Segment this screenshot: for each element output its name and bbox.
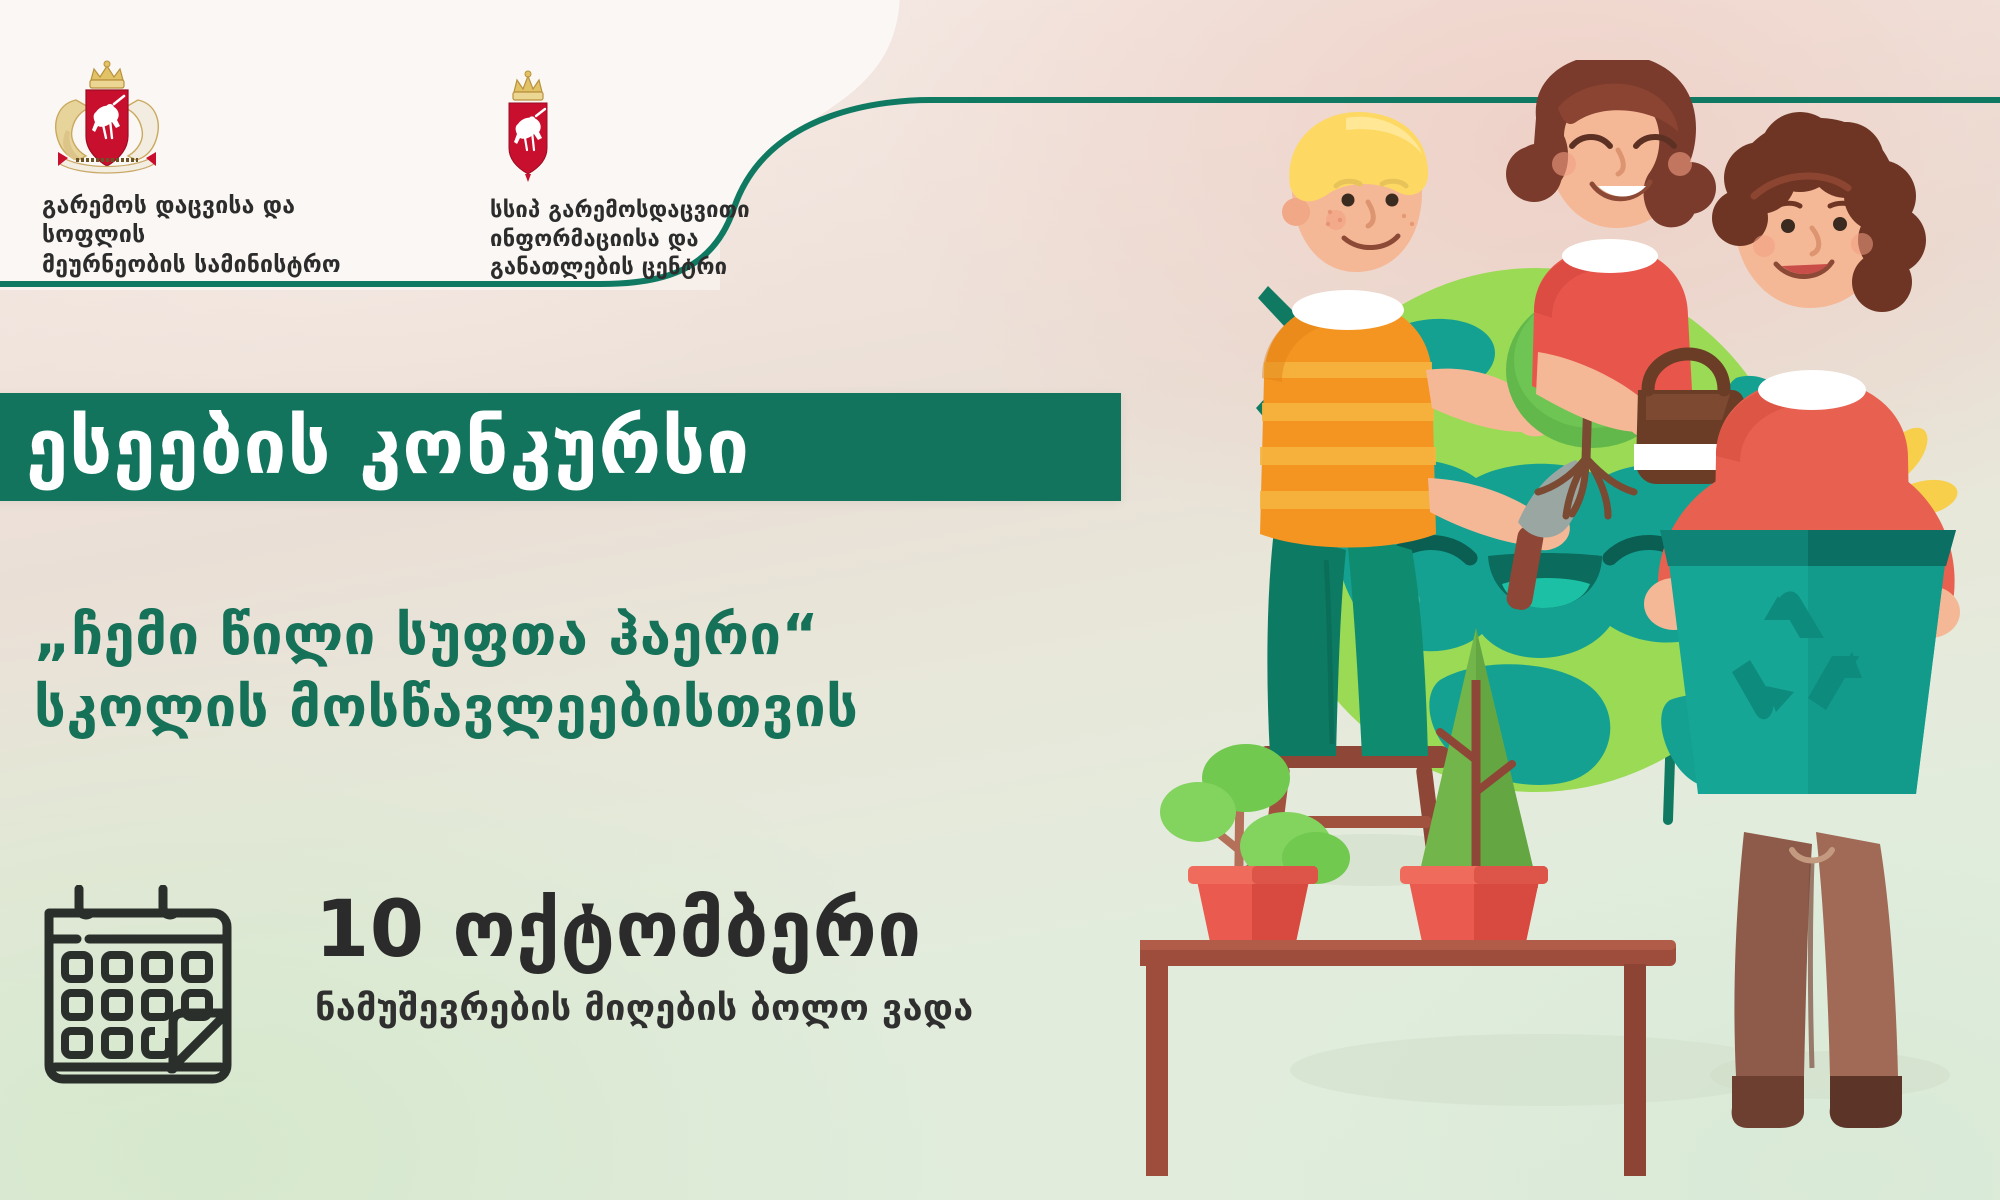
logo-ministry-line1: გარემოს დაცვისა და სოფლის xyxy=(42,192,382,251)
logo-center-line3: განათლების ცენტრი xyxy=(490,254,810,283)
title-banner: ესეების კონკურსი xyxy=(0,393,1121,501)
page-title: ესეების კონკურსი xyxy=(0,409,750,485)
subtitle-block: „ჩემი წილი სუფთა ჰაერი“ სკოლის მოსწავლეე… xyxy=(34,600,1184,743)
logo-ministry-line2: მეურნეობის სამინისტრო xyxy=(42,251,382,280)
calendar-icon xyxy=(35,885,240,1095)
georgia-greater-coat-of-arms-icon xyxy=(46,60,168,178)
child-with-recycling-bin xyxy=(1644,112,1960,1128)
potted-seedlings-table xyxy=(1140,866,1676,1176)
deadline-date: 10 ოქტომბერი xyxy=(315,890,973,972)
logo-center: სსიპ გარემოსდაცვითი ინფორმაციისა და განა… xyxy=(490,70,810,283)
logo-ministry: გარემოს დაცვისა და სოფლის მეურნეობის სამ… xyxy=(42,60,382,280)
subtitle-line-1: „ჩემი წილი სუფთა ჰაერი“ xyxy=(34,600,1184,672)
child-collar xyxy=(1758,370,1866,410)
deadline-note: ნამუშევრების მიღების ბოლო ვადა xyxy=(315,988,973,1029)
logo-center-text: სსიპ გარემოსდაცვითი ინფორმაციისა და განა… xyxy=(490,197,810,283)
logo-row: გარემოს დაცვისა და სოფლის მეურნეობის სამ… xyxy=(0,60,760,290)
children-planting-earth-illustration xyxy=(1140,60,2000,1200)
poster-root: გარემოს დაცვისა და სოფლის მეურნეობის სამ… xyxy=(0,0,2000,1200)
georgia-small-coat-of-arms-icon xyxy=(492,70,564,185)
girl-collar xyxy=(1562,239,1658,273)
recycling-bin xyxy=(1660,530,1956,794)
illustration xyxy=(1140,60,2000,1200)
logo-center-line2: ინფორმაციისა და xyxy=(490,226,810,255)
deadline-text: 10 ოქტომბერი ნამუშევრების მიღების ბოლო ვ… xyxy=(315,890,973,1029)
logo-ministry-text: გარემოს დაცვისა და სოფლის მეურნეობის სამ… xyxy=(42,192,382,280)
deadline-block: 10 ოქტომბერი ნამუშევრების მიღების ბოლო ვ… xyxy=(30,875,1130,1105)
logo-center-line1: სსიპ გარემოსდაცვითი xyxy=(490,197,810,226)
subtitle-line-2: სკოლის მოსწავლეებისთვის xyxy=(34,672,1184,744)
